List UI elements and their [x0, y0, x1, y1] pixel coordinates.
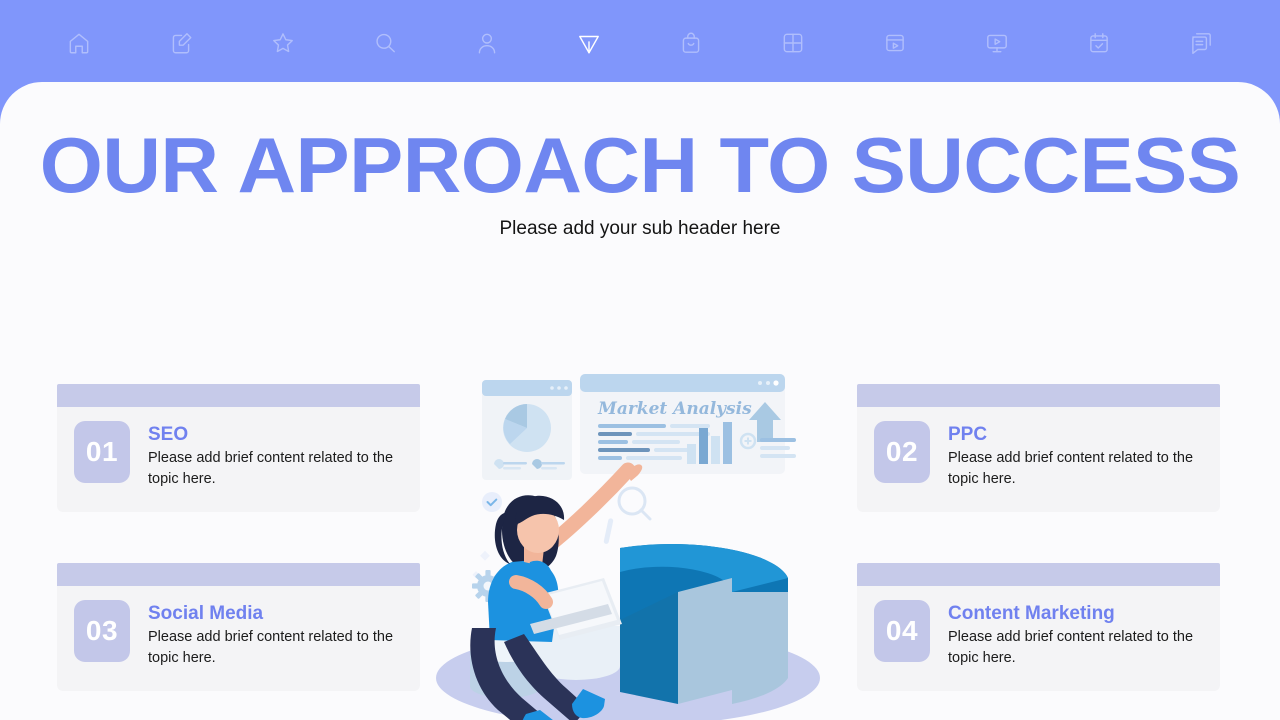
- media-player-icon[interactable]: [878, 26, 912, 60]
- market-analysis-illustration: Market Analysis: [420, 366, 860, 720]
- card-accent-bar: [57, 563, 420, 586]
- card-title: Content Marketing: [948, 602, 1200, 625]
- grid-layout-icon[interactable]: [776, 26, 810, 60]
- card-number-badge: 04: [874, 600, 930, 662]
- home-icon[interactable]: [62, 26, 96, 60]
- card-accent-bar: [857, 563, 1220, 586]
- card-social-media[interactable]: 03 Social Media Please add brief content…: [57, 563, 420, 691]
- send-icon[interactable]: [572, 26, 606, 60]
- card-ppc[interactable]: 02 PPC Please add brief content related …: [857, 384, 1220, 512]
- shopping-bag-icon[interactable]: [674, 26, 708, 60]
- dashboard-title: Market Analysis: [597, 399, 752, 419]
- card-accent-bar: [857, 384, 1220, 407]
- card-description: Please add brief content related to the …: [148, 448, 400, 490]
- card-title: Social Media: [148, 602, 400, 625]
- page-subtitle: Please add your sub header here: [0, 218, 1280, 240]
- card-number-badge: 01: [74, 421, 130, 483]
- top-icon-bar: [0, 0, 1280, 86]
- video-monitor-icon[interactable]: [980, 26, 1014, 60]
- compose-icon[interactable]: [164, 26, 198, 60]
- card-title: PPC: [948, 423, 1200, 446]
- card-description: Please add brief content related to the …: [948, 627, 1200, 669]
- chat-icon[interactable]: [1184, 26, 1218, 60]
- card-content-marketing[interactable]: 04 Content Marketing Please add brief co…: [857, 563, 1220, 691]
- search-icon[interactable]: [368, 26, 402, 60]
- card-description: Please add brief content related to the …: [948, 448, 1200, 490]
- card-body: 01 SEO Please add brief content related …: [57, 407, 420, 512]
- pie-chart-panel: [482, 380, 572, 480]
- card-number-badge: 02: [874, 421, 930, 483]
- star-icon[interactable]: [266, 26, 300, 60]
- card-accent-bar: [57, 384, 420, 407]
- card-text-group: Content Marketing Please add brief conte…: [930, 600, 1200, 669]
- card-seo[interactable]: 01 SEO Please add brief content related …: [57, 384, 420, 512]
- card-title: SEO: [148, 423, 400, 446]
- card-text-group: SEO Please add brief content related to …: [130, 421, 400, 490]
- content-panel: OUR APPROACH TO SUCCESS Please add your …: [0, 82, 1280, 720]
- calendar-check-icon[interactable]: [1082, 26, 1116, 60]
- card-description: Please add brief content related to the …: [148, 627, 400, 669]
- slide-canvas: OUR APPROACH TO SUCCESS Please add your …: [0, 0, 1280, 720]
- user-icon[interactable]: [470, 26, 504, 60]
- card-text-group: Social Media Please add brief content re…: [130, 600, 400, 669]
- card-text-group: PPC Please add brief content related to …: [930, 421, 1200, 490]
- card-body: 02 PPC Please add brief content related …: [857, 407, 1220, 512]
- card-number-badge: 03: [74, 600, 130, 662]
- card-body: 03 Social Media Please add brief content…: [57, 586, 420, 691]
- card-body: 04 Content Marketing Please add brief co…: [857, 586, 1220, 691]
- market-analysis-panel: Market Analysis: [580, 374, 796, 474]
- page-title: OUR APPROACH TO SUCCESS: [0, 126, 1280, 204]
